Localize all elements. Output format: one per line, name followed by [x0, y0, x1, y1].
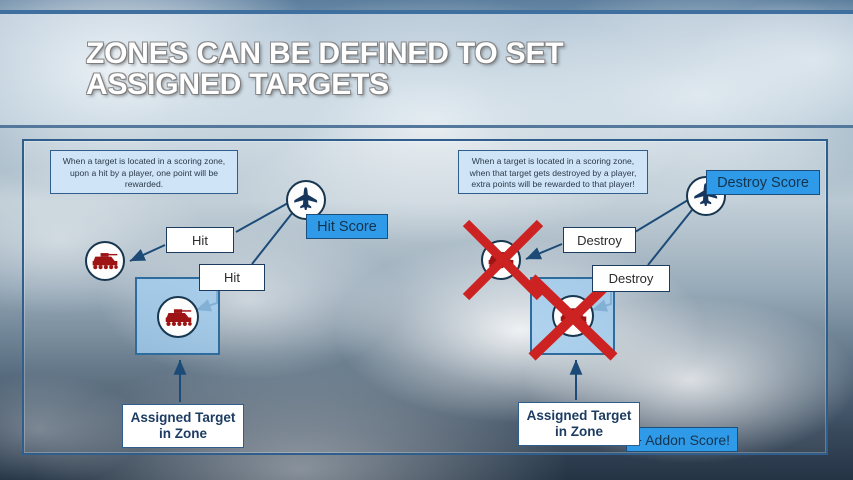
label-hit-1: Hit [166, 227, 234, 253]
callout-left-line-2: in Zone [159, 426, 207, 442]
header-band: ZONES CAN BE DEFINED TO SET ASSIGNED TAR… [0, 10, 853, 128]
assigned-target-callout-left: Assigned Target in Zone [122, 404, 244, 448]
ground-target-icon-right-free-destroyed [481, 240, 521, 280]
ground-target-icon [558, 305, 589, 328]
callout-left-line-1: Assigned Target [131, 410, 236, 426]
info-box-left: When a target is located in a scoring zo… [50, 150, 238, 194]
hit-score-badge: Hit Score [306, 214, 388, 239]
label-hit-2: Hit [199, 264, 265, 291]
destroy-score-badge: Destroy Score [706, 170, 820, 195]
page-title: ZONES CAN BE DEFINED TO SET ASSIGNED TAR… [86, 38, 786, 100]
ground-target-icon [163, 306, 194, 329]
slide-root: ZONES CAN BE DEFINED TO SET ASSIGNED TAR… [0, 0, 853, 480]
assigned-target-callout-right: Assigned Target in Zone [518, 402, 640, 446]
ground-target-icon [486, 249, 516, 271]
callout-right-line-2: in Zone [555, 424, 603, 440]
ground-target-icon-right-zone-destroyed [552, 295, 594, 337]
page-title-line-1: ZONES CAN BE DEFINED TO SET [86, 38, 786, 69]
page-title-line-2: ASSIGNED TARGETS [86, 69, 786, 100]
ground-target-icon-left-zone [157, 296, 199, 338]
info-box-right: When a target is located in a scoring zo… [458, 150, 648, 194]
ground-target-icon [90, 250, 120, 272]
addon-score-badge: + Addon Score! [626, 427, 738, 452]
callout-right-line-1: Assigned Target [527, 408, 632, 424]
label-destroy-2: Destroy [592, 265, 670, 292]
fighter-jet-icon [291, 185, 321, 215]
ground-target-icon-left-free [85, 241, 125, 281]
label-destroy-1: Destroy [563, 227, 636, 253]
